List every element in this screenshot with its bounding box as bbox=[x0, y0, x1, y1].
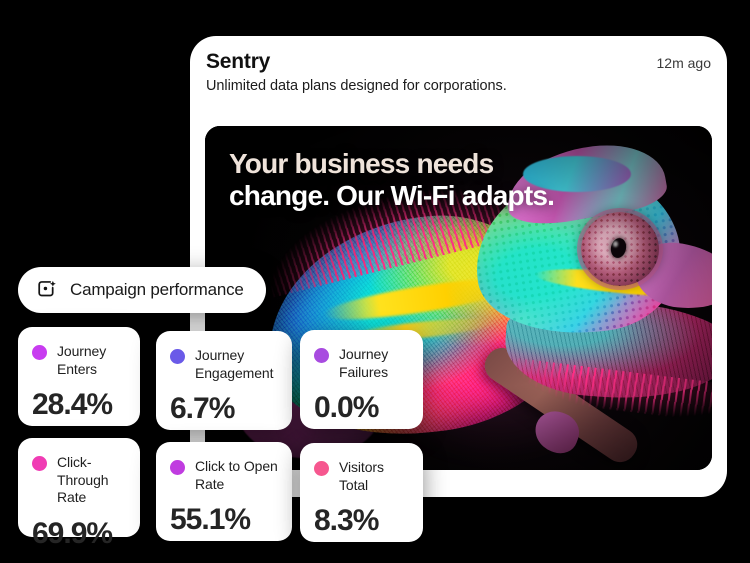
screenshot-stage: Sentry 12m ago Unlimited data plans desi… bbox=[0, 0, 750, 563]
metric-card-journey-enters[interactable]: Journey Enters 28.4% bbox=[18, 327, 140, 426]
metric-label: Journey Failures bbox=[339, 346, 409, 381]
metric-value: 8.3% bbox=[314, 504, 409, 538]
metric-color-dot bbox=[314, 348, 329, 363]
metric-header: Journey Enters bbox=[32, 343, 126, 378]
metric-value: 69.9% bbox=[32, 517, 126, 551]
metric-color-dot bbox=[170, 460, 185, 475]
metric-card-click-to-open-rate[interactable]: Click to Open Rate 55.1% bbox=[156, 442, 292, 541]
metric-color-dot bbox=[170, 349, 185, 364]
campaign-performance-pill[interactable]: Campaign performance bbox=[18, 267, 266, 313]
metric-color-dot bbox=[32, 456, 47, 471]
metric-header: Visitors Total bbox=[314, 459, 409, 494]
timestamp: 12m ago bbox=[657, 55, 711, 71]
metric-header: Click-Through Rate bbox=[32, 454, 126, 507]
metric-label: Click to Open Rate bbox=[195, 458, 278, 493]
brand-name: Sentry bbox=[206, 50, 270, 74]
metric-header: Journey Engagement bbox=[170, 347, 278, 382]
metric-label: Visitors Total bbox=[339, 459, 409, 494]
metric-card-journey-engagement[interactable]: Journey Engagement 6.7% bbox=[156, 331, 292, 430]
ad-headline: Your business needs change. Our Wi-Fi ad… bbox=[229, 148, 694, 213]
metric-label: Journey Enters bbox=[57, 343, 126, 378]
metric-card-visitors-total[interactable]: Visitors Total 8.3% bbox=[300, 443, 423, 542]
metric-color-dot bbox=[32, 345, 47, 360]
metric-value: 55.1% bbox=[170, 503, 278, 537]
campaign-performance-label: Campaign performance bbox=[70, 280, 244, 300]
metric-label: Click-Through Rate bbox=[57, 454, 126, 507]
metric-label: Journey Engagement bbox=[195, 347, 278, 382]
ai-sparkle-icon bbox=[36, 279, 58, 301]
metric-color-dot bbox=[314, 461, 329, 476]
metric-card-click-through-rate[interactable]: Click-Through Rate 69.9% bbox=[18, 438, 140, 537]
notification-subtitle: Unlimited data plans designed for corpor… bbox=[206, 78, 711, 94]
metric-header: Journey Failures bbox=[314, 346, 409, 381]
ad-headline-line-1: Your business needs bbox=[229, 148, 694, 180]
metric-card-journey-failures[interactable]: Journey Failures 0.0% bbox=[300, 330, 423, 429]
brand-row: Sentry 12m ago bbox=[206, 50, 711, 74]
metric-value: 0.0% bbox=[314, 391, 409, 425]
metric-value: 6.7% bbox=[170, 392, 278, 426]
ad-headline-line-2: change. Our Wi-Fi adapts. bbox=[229, 180, 694, 212]
notification-header: Sentry 12m ago Unlimited data plans desi… bbox=[206, 50, 711, 112]
metric-header: Click to Open Rate bbox=[170, 458, 278, 493]
pupil-gleam bbox=[613, 241, 618, 247]
metric-value: 28.4% bbox=[32, 388, 126, 422]
